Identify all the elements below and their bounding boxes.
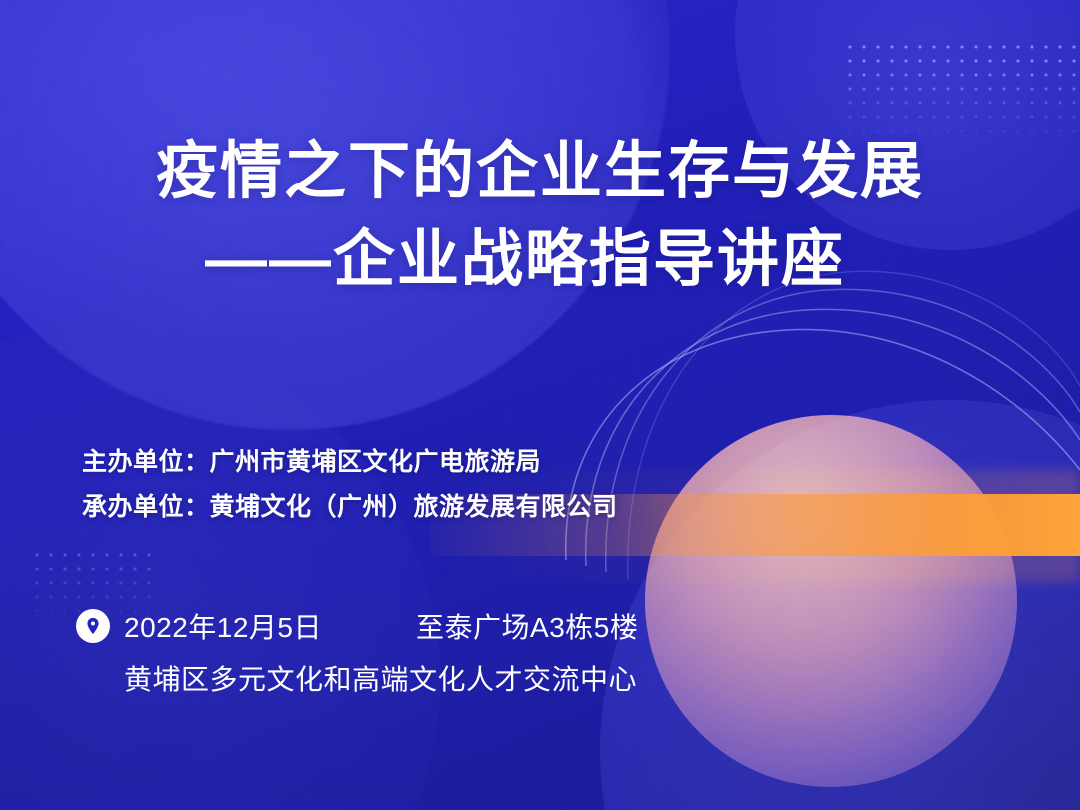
poster-title: 疫情之下的企业生存与发展 ——企业战略指导讲座 (0, 128, 1080, 304)
event-place: 至泰广场A3栋5楼 (416, 606, 638, 646)
title-line-subtitle: ——企业战略指导讲座 (0, 216, 1080, 304)
event-poster: 疫情之下的企业生存与发展 ——企业战略指导讲座 主办单位：广州市黄埔区文化广电旅… (0, 0, 1080, 810)
event-place-detail: 黄埔区多元文化和高端文化人才交流中心 (76, 658, 638, 698)
poster-content: 疫情之下的企业生存与发展 ——企业战略指导讲座 主办单位：广州市黄埔区文化广电旅… (0, 0, 1080, 810)
event-date: 2022年12月5日 (124, 606, 322, 646)
organizer-block: 主办单位：广州市黄埔区文化广电旅游局 承办单位：黄埔文化（广州）旅游发展有限公司 (82, 440, 618, 529)
host-organization: 主办单位：广州市黄埔区文化广电旅游局 (82, 440, 618, 485)
co-organizer-organization: 承办单位：黄埔文化（广州）旅游发展有限公司 (82, 485, 618, 530)
location-pin-icon (76, 609, 110, 643)
venue-date-row: 2022年12月5日 至泰广场A3栋5楼 (76, 606, 638, 646)
venue-block: 2022年12月5日 至泰广场A3栋5楼 黄埔区多元文化和高端文化人才交流中心 (76, 606, 638, 698)
title-line-primary: 疫情之下的企业生存与发展 (0, 128, 1080, 216)
